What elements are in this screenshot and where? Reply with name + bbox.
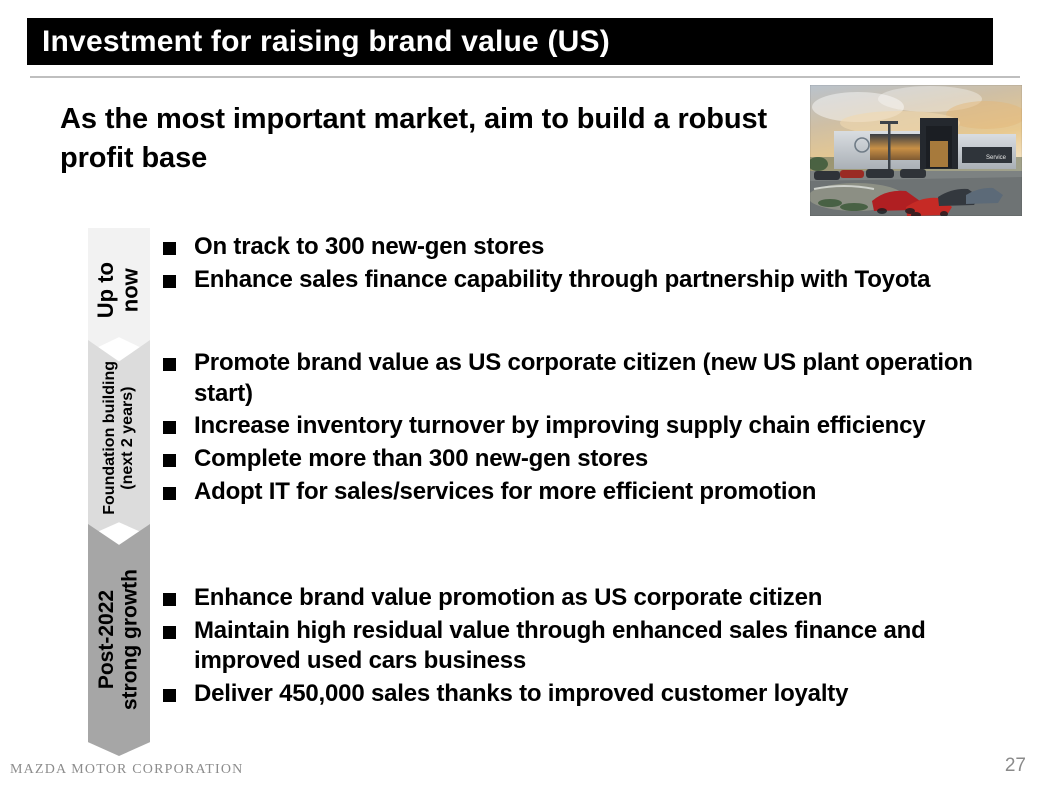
- title-divider-rule: [30, 76, 1020, 78]
- list-item: Increase inventory turnover by improving…: [163, 411, 1035, 442]
- bullet-group-foundation-building: Promote brand value as US corporate citi…: [163, 348, 1035, 510]
- slide-subtitle: As the most important market, aim to bui…: [60, 100, 800, 177]
- list-item-label: Promote brand value as US corporate citi…: [194, 348, 1035, 409]
- square-bullet-icon: [163, 593, 176, 606]
- timeline-segment-up-to-now: Up to now: [88, 228, 150, 352]
- list-item: Deliver 450,000 sales thanks to improved…: [163, 679, 1035, 710]
- list-item: Enhance sales finance capability through…: [163, 265, 1035, 296]
- timeline-segment-label: Post-2022 strong growth: [95, 569, 142, 710]
- square-bullet-icon: [163, 275, 176, 288]
- list-item: Promote brand value as US corporate citi…: [163, 348, 1035, 409]
- page-number: 27: [1005, 755, 1026, 777]
- list-item: On track to 300 new-gen stores: [163, 232, 1035, 263]
- list-item-label: Increase inventory turnover by improving…: [194, 411, 1035, 442]
- list-item-label: Complete more than 300 new-gen stores: [194, 444, 1035, 475]
- list-item-label: Enhance sales finance capability through…: [194, 265, 1035, 296]
- square-bullet-icon: [163, 487, 176, 500]
- timeline-segment-label: Foundation building (next 2 years): [101, 361, 137, 515]
- list-item-label: Adopt IT for sales/services for more eff…: [194, 477, 1035, 508]
- timeline-segment-foundation-building: Foundation building (next 2 years): [88, 340, 150, 536]
- list-item-label: On track to 300 new-gen stores: [194, 232, 1035, 263]
- list-item: Maintain high residual value through enh…: [163, 616, 1035, 677]
- square-bullet-icon: [163, 689, 176, 702]
- list-item: Complete more than 300 new-gen stores: [163, 444, 1035, 475]
- bullet-group-post-2022-strong-growth: Enhance brand value promotion as US corp…: [163, 583, 1035, 712]
- company-footer-logo: MAZDA MOTOR CORPORATION: [10, 762, 243, 778]
- slide-canvas: Investment for raising brand value (US) …: [0, 0, 1048, 786]
- square-bullet-icon: [163, 454, 176, 467]
- square-bullet-icon: [163, 421, 176, 434]
- timeline-arrow-column: Up to now Foundation building (next 2 ye…: [88, 228, 150, 756]
- page-title: Investment for raising brand value (US): [27, 25, 610, 59]
- square-bullet-icon: [163, 242, 176, 255]
- svg-text:Service: Service: [986, 155, 1007, 161]
- square-bullet-icon: [163, 626, 176, 639]
- bullet-group-up-to-now: On track to 300 new-gen stores Enhance s…: [163, 232, 1035, 297]
- dealership-photo: Service: [810, 85, 1022, 216]
- list-item-label: Enhance brand value promotion as US corp…: [194, 583, 1035, 614]
- dealership-photo-illustration: Service: [810, 85, 1022, 216]
- list-item-label: Maintain high residual value through enh…: [194, 616, 1035, 677]
- slide-title-bar: Investment for raising brand value (US): [27, 18, 993, 65]
- timeline-segment-post-2022-strong-growth: Post-2022 strong growth: [88, 524, 150, 756]
- list-item: Enhance brand value promotion as US corp…: [163, 583, 1035, 614]
- square-bullet-icon: [163, 358, 176, 371]
- list-item-label: Deliver 450,000 sales thanks to improved…: [194, 679, 1035, 710]
- timeline-segment-label: Up to now: [94, 262, 143, 318]
- list-item: Adopt IT for sales/services for more eff…: [163, 477, 1035, 508]
